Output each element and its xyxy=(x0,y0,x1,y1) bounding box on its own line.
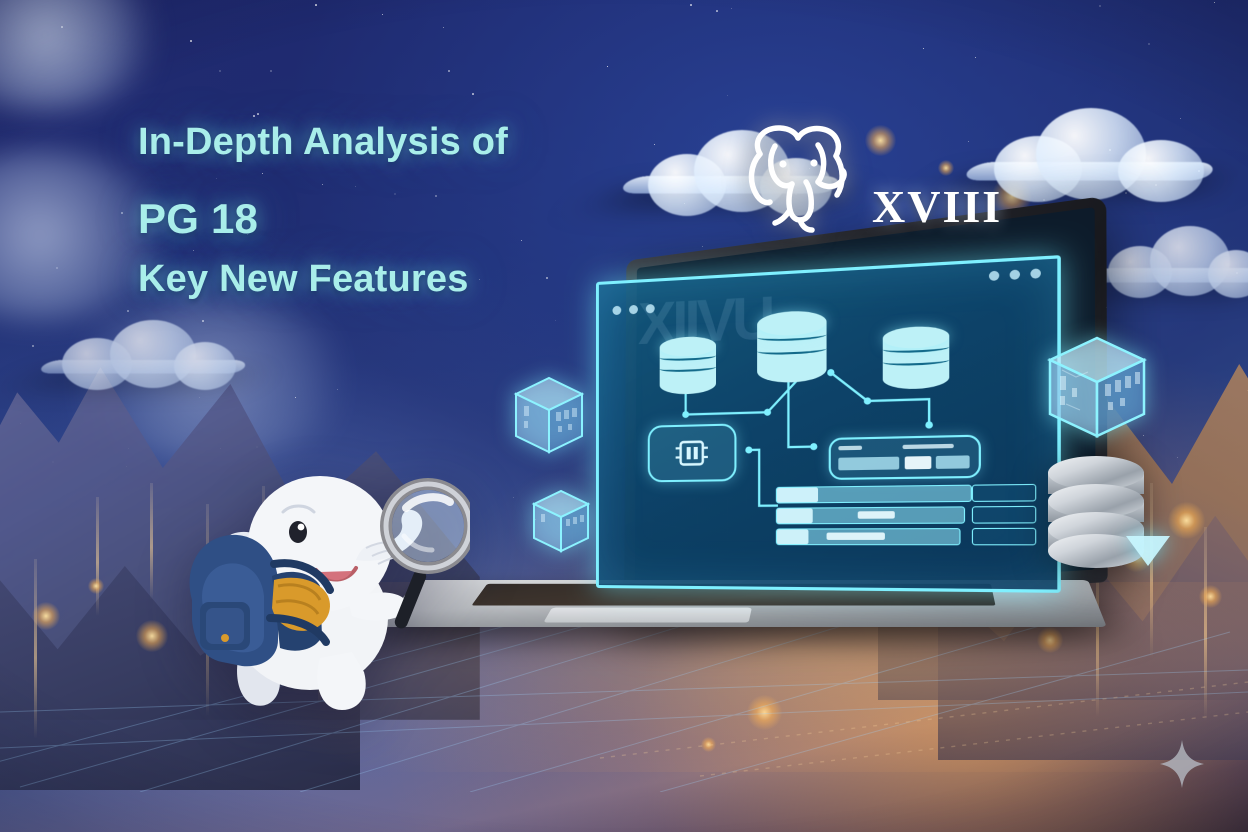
banner-canvas: In-Depth Analysis of PG 18 Key New Featu… xyxy=(0,0,1248,832)
screen-row-value xyxy=(972,484,1036,502)
chip-icon xyxy=(672,434,712,472)
data-cube-right-icon xyxy=(1042,332,1152,444)
screen-row-value xyxy=(972,528,1036,546)
db-node-left-icon xyxy=(660,336,716,395)
data-cube-left-lower-icon xyxy=(528,486,594,556)
laptop-trackpad xyxy=(543,608,752,623)
panel-action-primary[interactable] xyxy=(905,456,932,469)
ai-sparkle-watermark-icon xyxy=(1160,740,1204,788)
cyan-triangle-marker xyxy=(1126,536,1170,566)
processor-chip-node xyxy=(648,423,737,482)
title-line-3: Key New Features xyxy=(138,256,508,302)
screen-row-bar xyxy=(776,528,961,545)
screen-hud-overlay: XIIVU xyxy=(596,255,1061,593)
data-cube-left-upper-icon xyxy=(508,372,590,458)
db-node-right-icon xyxy=(883,325,950,390)
db-node-center-icon xyxy=(757,310,826,384)
version-roman-numeral: XVIII xyxy=(872,180,1002,233)
title-line-1: In-Depth Analysis of xyxy=(138,120,508,164)
screen-detail-panel xyxy=(829,435,981,480)
panel-action-secondary[interactable] xyxy=(936,455,970,469)
elephant-mascot-with-magnifier xyxy=(170,404,470,724)
postgresql-elephant-logo-icon xyxy=(726,118,866,236)
screen-row-bar xyxy=(776,485,972,504)
panel-field-label xyxy=(838,446,862,451)
title-block: In-Depth Analysis of PG 18 Key New Featu… xyxy=(138,120,508,302)
panel-field-value xyxy=(903,444,954,449)
title-line-2: PG 18 xyxy=(138,194,508,244)
screen-row-bar xyxy=(776,506,965,524)
screen-row-value xyxy=(972,506,1036,524)
panel-input[interactable] xyxy=(838,457,899,471)
